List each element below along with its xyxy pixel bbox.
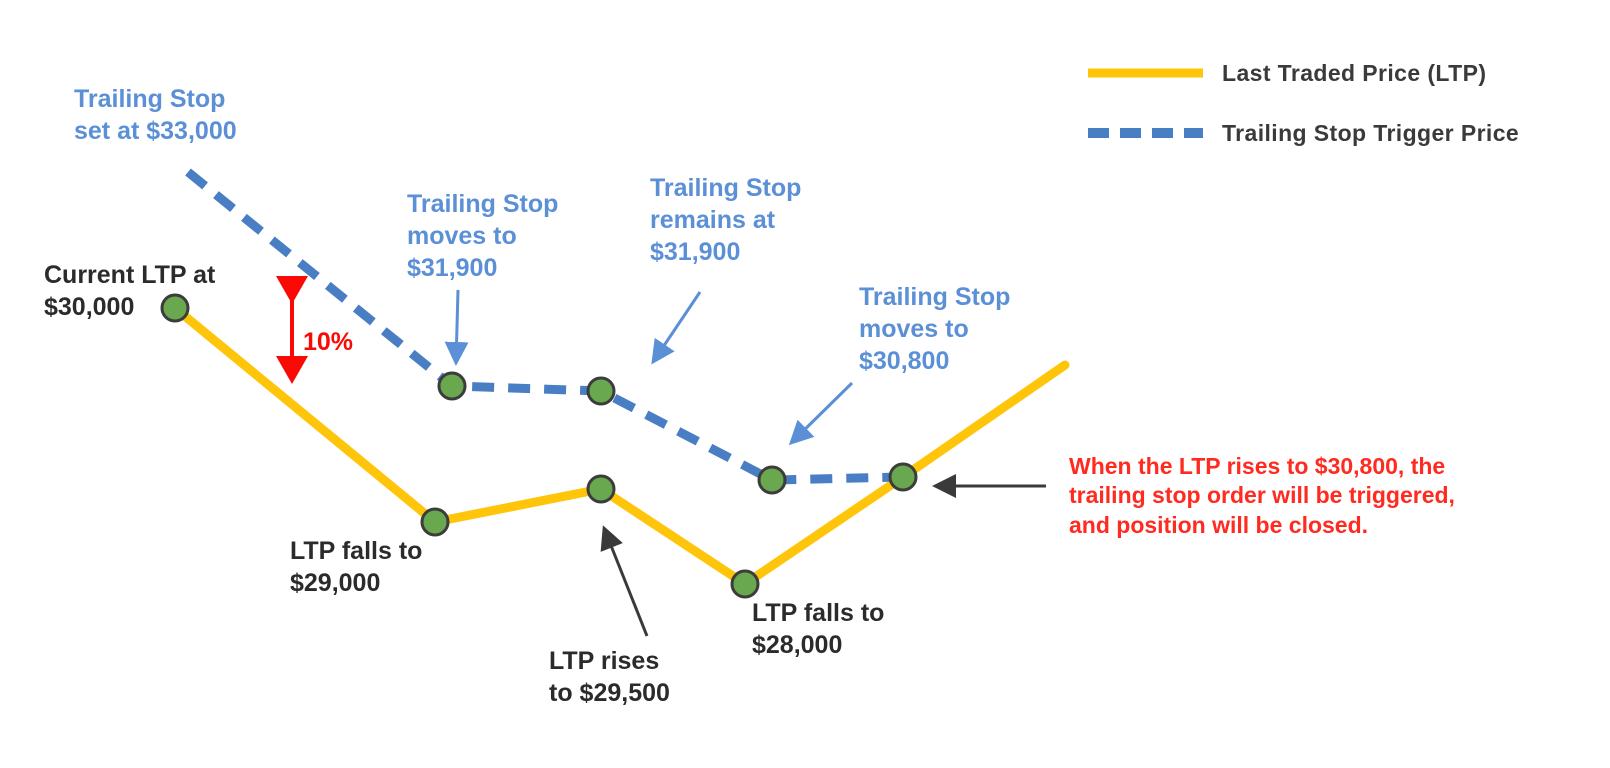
leader-arrow-ts-30800 [791,383,852,443]
annotation-ltp-falls-28000: LTP falls to $28,000 [752,597,884,661]
leader-arrow-ts-remains [653,292,700,362]
annotation-trailing-stop-set: Trailing Stop set at $33,000 [74,83,237,147]
annotation-ltp-rises-29500: LTP rises to $29,500 [549,645,670,709]
legend-label-ltp: Last Traded Price (LTP) [1222,60,1486,87]
marker-trailing-30800-a [759,467,785,493]
legend-label-trailing-stop: Trailing Stop Trigger Price [1222,120,1519,147]
leader-arrow-ts-31900 [456,290,458,363]
annotation-trailing-stop-moves-31900: Trailing Stop moves to $31,900 [407,188,558,284]
marker-trailing-31900-a [439,373,465,399]
marker-ltp-29500 [588,476,614,502]
marker-trailing-31900-b [588,378,614,404]
leader-arrow-ltp-rises [604,528,647,636]
marker-ltp-28000 [732,571,758,597]
annotation-ltp-falls-29000: LTP falls to $29,000 [290,535,422,599]
marker-ltp-29000 [422,509,448,535]
annotation-percent-gap: 10% [303,326,353,358]
annotation-trigger-note: When the LTP rises to $30,800, the trail… [1069,452,1455,540]
annotation-trailing-stop-remains-31900: Trailing Stop remains at $31,900 [650,172,801,268]
diagram-canvas: Last Traded Price (LTP) Trailing Stop Tr… [0,0,1610,768]
annotation-trailing-stop-moves-30800: Trailing Stop moves to $30,800 [859,281,1010,377]
marker-trigger-30800 [890,464,916,490]
annotation-current-ltp: Current LTP at $30,000 [44,259,215,323]
